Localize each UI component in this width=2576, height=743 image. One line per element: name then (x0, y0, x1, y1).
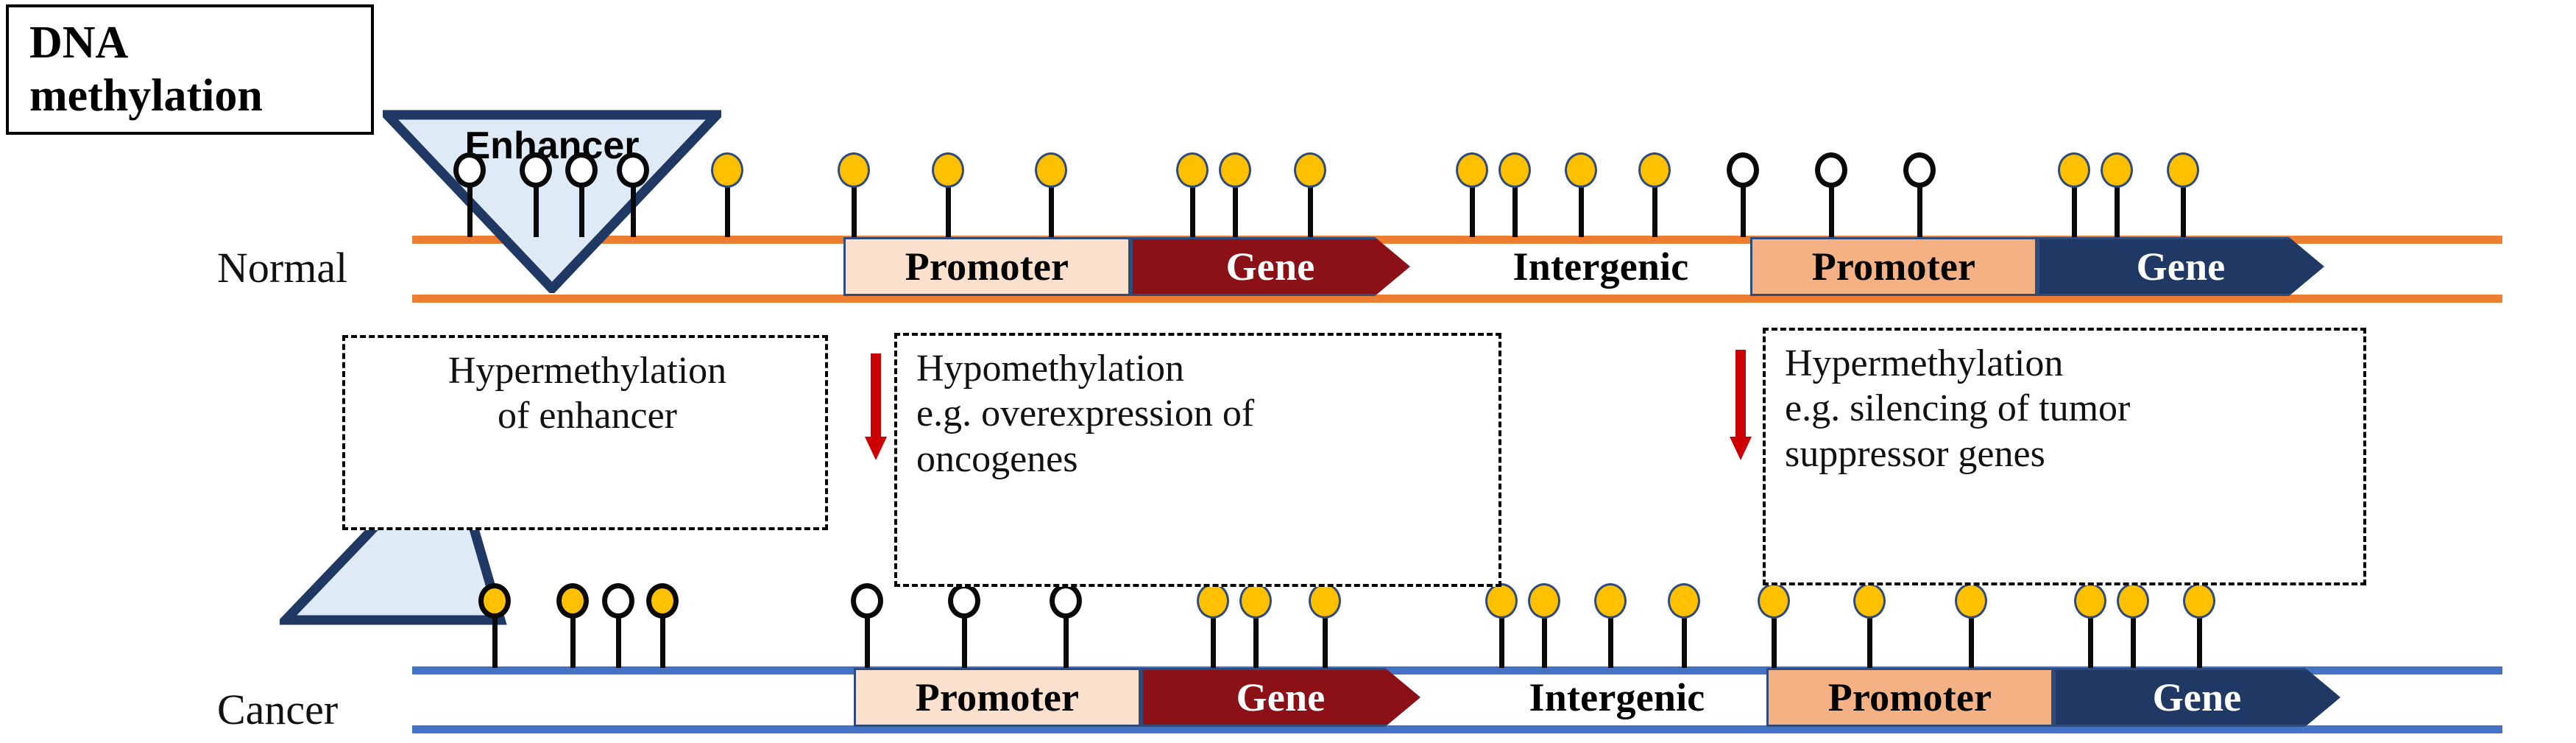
feature-promoter-label: Promoter (1812, 244, 1975, 289)
cpg-head (1727, 152, 1759, 188)
cpg-head (520, 152, 552, 188)
methylated-cpg-marker (1294, 152, 1326, 237)
methylated-cpg-marker (1758, 583, 1790, 668)
feature-intergenic: Intergenic (1465, 237, 1737, 296)
cpg-stem (1064, 613, 1069, 668)
methylated-cpg-marker (932, 152, 964, 237)
down-arrow-icon (865, 353, 887, 460)
cpg-head (1638, 152, 1671, 188)
unmethylated-cpg-marker (851, 583, 883, 668)
cpg-stem (852, 182, 857, 237)
cpg-stem (2181, 182, 2186, 237)
feature-promoter: Promoter (1750, 237, 2037, 296)
methylated-cpg-marker (1498, 152, 1531, 237)
methylated-cpg-marker (1594, 583, 1627, 668)
cpg-head (565, 152, 598, 188)
cpg-head (1668, 583, 1700, 619)
cpg-head (1239, 583, 1272, 619)
feature-gene-label: Gene (1236, 675, 1326, 720)
cpg-stem (865, 613, 870, 668)
cpg-head (1594, 583, 1627, 619)
methylated-cpg-marker (1528, 583, 1560, 668)
title-line-2: methylation (29, 70, 371, 123)
cpg-stem (631, 182, 636, 237)
cpg-head (932, 152, 964, 188)
cpg-head (2117, 583, 2149, 619)
cpg-head (556, 583, 589, 619)
cpg-head (1035, 152, 1067, 188)
annotation-line: of enhancer (364, 393, 810, 438)
cpg-head (453, 152, 486, 188)
cpg-stem (946, 182, 951, 237)
annotation-hypermethylation-enhancer: Hypermethylation of enhancer (342, 335, 828, 530)
feature-gene: Gene (1130, 237, 1410, 296)
cpg-head (1050, 583, 1082, 619)
unmethylated-cpg-marker (1815, 152, 1847, 237)
unmethylated-cpg-marker (453, 152, 486, 237)
methylated-cpg-marker (1309, 583, 1341, 668)
methylated-cpg-marker (1638, 152, 1671, 237)
cpg-head (1219, 152, 1251, 188)
cpg-head (1485, 583, 1518, 619)
cpg-stem (1608, 613, 1613, 668)
feature-promoter: Promoter (1766, 668, 2053, 727)
cpg-stem (1772, 613, 1777, 668)
annotation-line: e.g. silencing of tumor (1785, 386, 2349, 431)
methylated-cpg-marker (556, 583, 589, 668)
row-label-normal: Normal (217, 243, 347, 292)
cpg-stem (1253, 613, 1259, 668)
methylated-cpg-marker (646, 583, 679, 668)
cpg-stem (579, 182, 584, 237)
feature-gene-label: Gene (1226, 244, 1315, 289)
feature-promoter-label: Promoter (905, 244, 1069, 289)
cpg-head (2167, 152, 2199, 188)
cpg-stem (2115, 182, 2120, 237)
methylated-cpg-marker (1219, 152, 1251, 237)
cpg-head (478, 583, 511, 619)
cpg-head (2183, 583, 2215, 619)
methylated-cpg-marker (1565, 152, 1597, 237)
feature-intergenic-label: Intergenic (1513, 244, 1689, 289)
cpg-head (602, 583, 634, 619)
cpg-stem (2131, 613, 2136, 668)
cpg-stem (1190, 182, 1195, 237)
down-arrow-icon (1730, 350, 1752, 460)
annotation-line: Hypermethylation (364, 348, 810, 393)
methylated-cpg-marker (2074, 583, 2106, 668)
cpg-head (1815, 152, 1847, 188)
unmethylated-cpg-marker (520, 152, 552, 237)
cpg-stem (1682, 613, 1687, 668)
cpg-head (1456, 152, 1488, 188)
unmethylated-cpg-marker (602, 583, 634, 668)
cpg-head (948, 583, 980, 619)
methylated-cpg-marker (478, 583, 511, 668)
cpg-stem (492, 613, 498, 668)
cpg-head (1903, 152, 1936, 188)
cpg-stem (660, 613, 665, 668)
methylated-cpg-marker (2117, 583, 2149, 668)
cpg-stem (1323, 613, 1328, 668)
methylated-cpg-marker (2167, 152, 2199, 237)
methylated-cpg-marker (1485, 583, 1518, 668)
methylated-cpg-marker (1197, 583, 1229, 668)
cpg-stem (1652, 182, 1657, 237)
feature-gene-label: Gene (2137, 244, 2226, 289)
methylated-cpg-marker (838, 152, 870, 237)
feature-gene-label: Gene (2153, 675, 2242, 720)
cpg-stem (1211, 613, 1216, 668)
cpg-stem (1049, 182, 1054, 237)
cpg-head (646, 583, 679, 619)
title-line-1: DNA (29, 17, 371, 70)
cpg-head (2101, 152, 2133, 188)
unmethylated-cpg-marker (1727, 152, 1759, 237)
cpg-stem (1867, 613, 1872, 668)
cpg-head (1309, 583, 1341, 619)
feature-gene: Gene (2037, 237, 2324, 296)
cpg-stem (534, 182, 539, 237)
cpg-head (2074, 583, 2106, 619)
feature-promoter: Promoter (843, 237, 1130, 296)
methylated-cpg-marker (2101, 152, 2133, 237)
cpg-stem (1579, 182, 1584, 237)
cpg-stem (1829, 182, 1834, 237)
annotation-hypermethylation-tsg: Hypermethylation e.g. silencing of tumor… (1763, 328, 2366, 585)
diagram-canvas: DNA methylation Normal Cancer Enhancer P… (0, 0, 2576, 743)
row-label-cancer: Cancer (217, 685, 338, 734)
feature-gene: Gene (1141, 668, 1420, 727)
methylated-cpg-marker (1668, 583, 1700, 668)
cpg-head (1955, 583, 1987, 619)
cpg-stem (1917, 182, 1922, 237)
cpg-head (1528, 583, 1560, 619)
cpg-stem (1969, 613, 1974, 668)
feature-intergenic-label: Intergenic (1529, 675, 1705, 720)
annotation-line: oncogenes (916, 437, 1484, 482)
cpg-head (1176, 152, 1209, 188)
feature-gene: Gene (2053, 668, 2340, 727)
cpg-head (1758, 583, 1790, 619)
cpg-head (1197, 583, 1229, 619)
cpg-stem (1499, 613, 1504, 668)
annotation-line: Hypermethylation (1785, 341, 2349, 386)
annotation-line: suppressor genes (1785, 432, 2349, 476)
page-title: DNA methylation (6, 4, 374, 135)
cpg-head (617, 152, 649, 188)
feature-promoter-label: Promoter (916, 675, 1079, 720)
cpg-stem (467, 182, 473, 237)
feature-promoter-label: Promoter (1828, 675, 1992, 720)
feature-intergenic: Intergenic (1481, 668, 1753, 727)
cpg-stem (725, 182, 730, 237)
unmethylated-cpg-marker (565, 152, 598, 237)
cpg-head (838, 152, 870, 188)
methylated-cpg-marker (2183, 583, 2215, 668)
cpg-head (851, 583, 883, 619)
unmethylated-cpg-marker (617, 152, 649, 237)
methylated-cpg-marker (2058, 152, 2090, 237)
cpg-head (1294, 152, 1326, 188)
cpg-head (2058, 152, 2090, 188)
methylated-cpg-marker (1456, 152, 1488, 237)
cpg-stem (2197, 613, 2202, 668)
annotation-hypomethylation-oncogenes: Hypomethylation e.g. overexpression of o… (894, 333, 1501, 587)
cpg-stem (962, 613, 967, 668)
cpg-head (711, 152, 743, 188)
cpg-stem (1512, 182, 1518, 237)
unmethylated-cpg-marker (1903, 152, 1936, 237)
annotation-line: Hypomethylation (916, 346, 1484, 391)
cpg-stem (2072, 182, 2077, 237)
cpg-stem (2088, 613, 2093, 668)
methylated-cpg-marker (1176, 152, 1209, 237)
cpg-stem (616, 613, 621, 668)
methylated-cpg-marker (1853, 583, 1886, 668)
methylated-cpg-marker (1239, 583, 1272, 668)
cpg-stem (570, 613, 576, 668)
cpg-stem (1741, 182, 1746, 237)
feature-promoter: Promoter (854, 668, 1141, 727)
cpg-head (1853, 583, 1886, 619)
cpg-stem (1470, 182, 1475, 237)
unmethylated-cpg-marker (1050, 583, 1082, 668)
methylated-cpg-marker (711, 152, 743, 237)
methylated-cpg-marker (1955, 583, 1987, 668)
cpg-head (1565, 152, 1597, 188)
unmethylated-cpg-marker (948, 583, 980, 668)
methylated-cpg-marker (1035, 152, 1067, 237)
cpg-stem (1542, 613, 1547, 668)
cpg-head (1498, 152, 1531, 188)
cpg-stem (1233, 182, 1238, 237)
cpg-stem (1308, 182, 1313, 237)
annotation-line: e.g. overexpression of (916, 391, 1484, 436)
